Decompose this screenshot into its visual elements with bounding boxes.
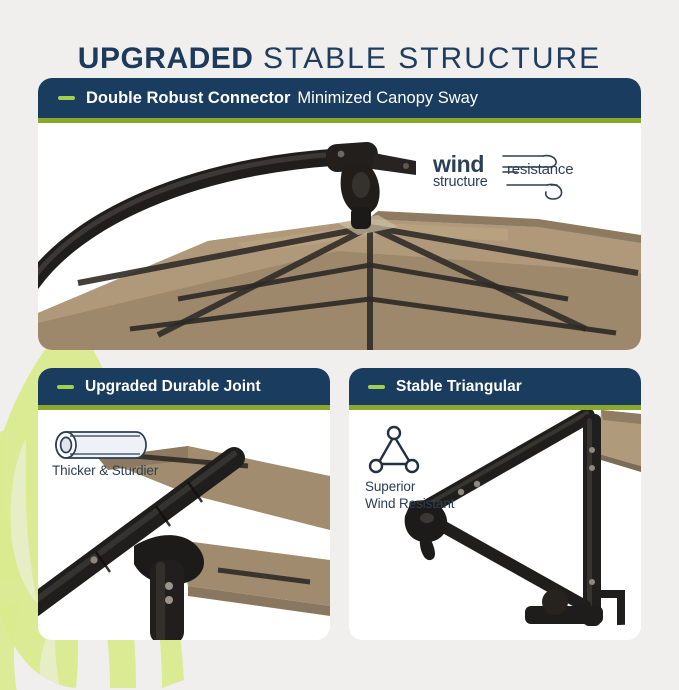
dash-accent-icon bbox=[58, 96, 75, 100]
dash-accent-icon bbox=[368, 385, 385, 389]
panel-header-title: Upgraded Durable Joint bbox=[85, 378, 261, 396]
tube-cylinder-icon bbox=[52, 428, 148, 462]
triangle-nodes-icon bbox=[365, 424, 425, 478]
panel-header-triangular: Stable Triangular bbox=[349, 368, 641, 405]
wind-resistance-lockup: wind structure resistance bbox=[433, 145, 623, 207]
dash-accent-icon bbox=[57, 385, 74, 389]
annotation-superior-wind-resistant: Superior Wind Resistant bbox=[365, 424, 454, 513]
panel-double-robust-connector: Double Robust Connector Minimized Canopy… bbox=[38, 78, 641, 350]
annotation-label: Thicker & Sturdier bbox=[52, 462, 158, 479]
panel-header-title: Stable Triangular bbox=[396, 378, 522, 396]
panel-header-joint: Upgraded Durable Joint bbox=[38, 368, 330, 405]
annotation-thicker-sturdier: Thicker & Sturdier bbox=[52, 428, 158, 479]
umbrella-triangular-frame-photo: Superior Wind Resistant bbox=[349, 410, 641, 640]
page-title: UPGRADED STABLE STRUCTURE bbox=[0, 42, 679, 76]
panel-stable-triangular: Stable Triangular bbox=[349, 368, 641, 640]
page-title-light: STABLE STRUCTURE bbox=[263, 42, 601, 75]
page-title-strong: UPGRADED bbox=[78, 42, 254, 75]
annotation-label-line2: Wind Resistant bbox=[365, 495, 454, 512]
umbrella-connector-photo: wind structure resistance bbox=[38, 123, 641, 350]
panel-upgraded-durable-joint: Upgraded Durable Joint bbox=[38, 368, 330, 640]
infographic-canvas: UPGRADED STABLE STRUCTURE Double Robust … bbox=[0, 0, 679, 679]
panel-header-connector: Double Robust Connector Minimized Canopy… bbox=[38, 78, 641, 118]
panel-header-title: Double Robust Connector bbox=[86, 89, 290, 108]
panel-header-subtitle: Minimized Canopy Sway bbox=[297, 89, 478, 108]
annotation-label-line1: Superior bbox=[365, 478, 454, 495]
wind-swirl-icon bbox=[433, 145, 623, 207]
umbrella-joint-photo: Thicker & Sturdier bbox=[38, 410, 330, 640]
